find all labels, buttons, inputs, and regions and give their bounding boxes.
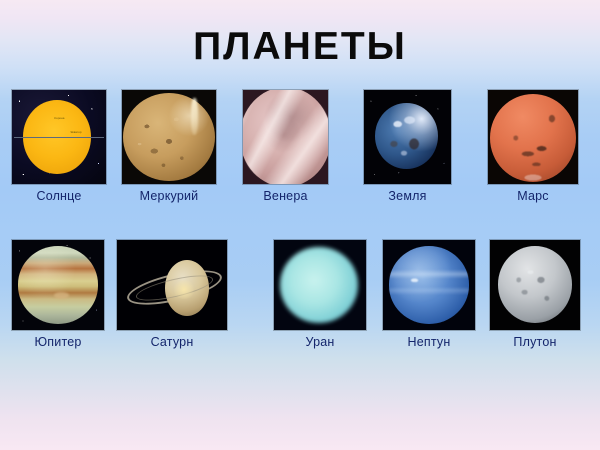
planet-caption-saturn: Сатурн — [151, 335, 194, 349]
sun-corona-label: Корона — [54, 116, 64, 120]
mercury-photo — [122, 90, 216, 184]
planets-slide: ПЛАНЕТЫ Корона Экватор Солнце Меркурий — [0, 0, 600, 450]
planet-caption-mars: Марс — [517, 189, 549, 203]
mercury-craters — [123, 93, 215, 181]
planet-caption-earth: Земля — [388, 189, 426, 203]
planet-cell-saturn[interactable]: Сатурн — [117, 240, 227, 330]
mercury-disc — [123, 93, 215, 181]
venus-disc — [243, 90, 328, 184]
jupiter-photo — [12, 240, 104, 330]
mars-disc — [490, 94, 576, 182]
sun-equator-line — [14, 137, 104, 138]
planet-cell-sun[interactable]: Корона Экватор Солнце — [12, 90, 106, 184]
uranus-disc — [280, 247, 357, 323]
planet-cell-jupiter[interactable]: Юпитер — [12, 240, 104, 330]
earth-disc — [375, 103, 438, 169]
uranus-photo — [274, 240, 366, 330]
planet-cell-mercury[interactable]: Меркурий — [122, 90, 216, 184]
mars-photo — [488, 90, 578, 184]
earth-landmasses — [375, 103, 438, 169]
planet-caption-venus: Венера — [263, 189, 307, 203]
planet-cell-uranus[interactable]: Уран — [274, 240, 366, 330]
saturn-photo — [117, 240, 227, 330]
sun-photo: Корона Экватор — [12, 90, 106, 184]
sun-equator-label: Экватор — [70, 130, 81, 134]
pluto-disc — [498, 246, 572, 323]
neptune-cloud-bands — [389, 246, 470, 323]
pluto-photo — [490, 240, 580, 330]
planet-caption-sun: Солнце — [36, 189, 81, 203]
venus-clouds — [243, 90, 328, 184]
planet-caption-mercury: Меркурий — [140, 189, 199, 203]
planet-caption-neptune: Нептун — [408, 335, 451, 349]
mars-surface-markings — [490, 94, 576, 182]
planet-cell-earth[interactable]: Земля — [364, 90, 451, 184]
jupiter-disc — [18, 246, 99, 323]
venus-photo — [243, 90, 328, 184]
earth-photo — [364, 90, 451, 184]
planet-cell-mars[interactable]: Марс — [488, 90, 578, 184]
planet-caption-uranus: Уран — [306, 335, 335, 349]
page-title: ПЛАНЕТЫ — [0, 24, 600, 70]
neptune-photo — [383, 240, 475, 330]
planet-cell-venus[interactable]: Венера — [243, 90, 328, 184]
planet-cell-pluto[interactable]: Плутон — [490, 240, 580, 330]
planet-caption-jupiter: Юпитер — [34, 335, 81, 349]
mercury-highlight-streak — [191, 98, 199, 136]
planet-caption-pluto: Плутон — [513, 335, 556, 349]
pluto-craters — [498, 246, 572, 323]
neptune-disc — [389, 246, 470, 323]
planet-cell-neptune[interactable]: Нептун — [383, 240, 475, 330]
